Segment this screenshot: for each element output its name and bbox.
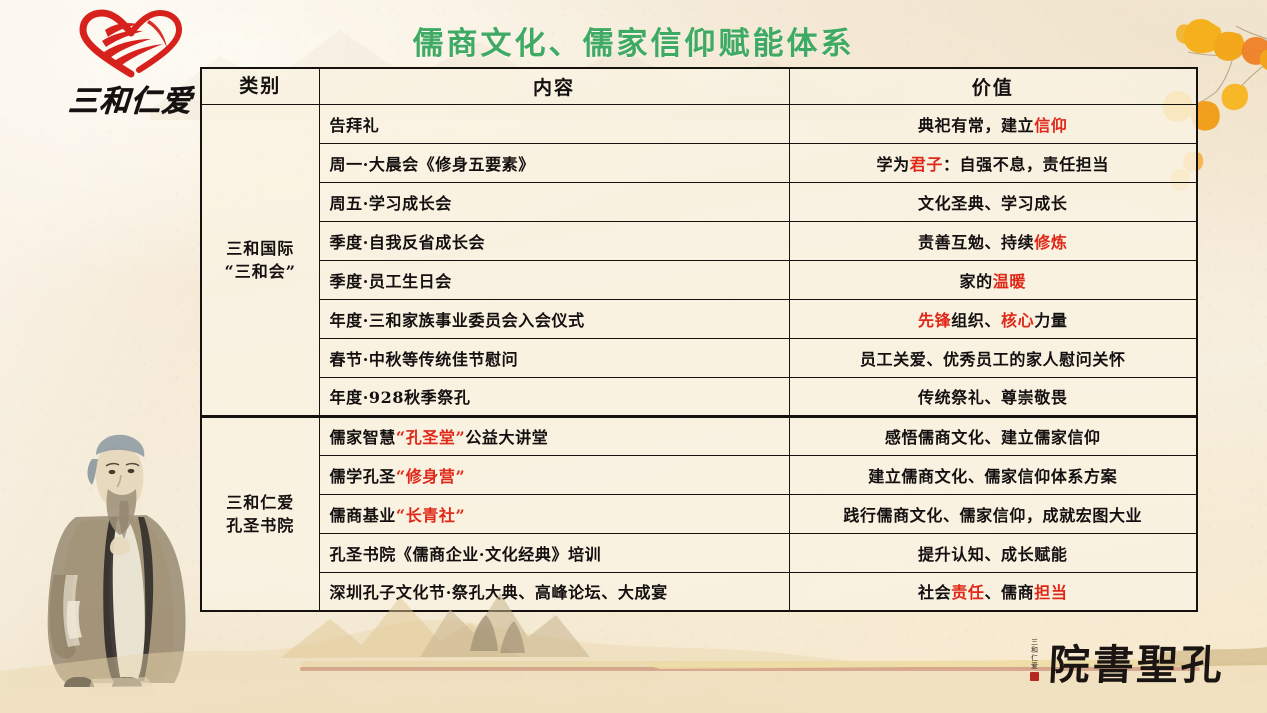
value-segment-1: 组织、 [951,311,1001,330]
value-segment-2: 、儒商 [984,583,1034,602]
content-cell: 告拜礼 [319,104,789,143]
content-cell: 年度·928秋季祭孔 [319,377,789,416]
content-cell: 儒家智慧“孔圣堂”公益大讲堂 [319,416,789,455]
content-cell: 季度·自我反省成长会 [319,221,789,260]
seal-stamp-square-icon [1030,672,1039,681]
table-header-row: 类别 内容 价值 [201,68,1197,104]
value-segment-0: 感悟儒商文化、建立儒家信仰 [885,428,1101,447]
value-cell: 先锋组织、核心力量 [789,299,1197,338]
table-row: 深圳孔子文化节·祭孔大典、高峰论坛、大成宴社会责任、儒商担当 [201,572,1197,611]
table-row: 儒商基业“长青社”践行儒商文化、儒家信仰，成就宏图大业 [201,494,1197,533]
content-cell: 儒学孔圣“修身营” [319,455,789,494]
brand-logo-text: 三和仁爱 [46,76,214,120]
content-cell: 儒商基业“长青社” [319,494,789,533]
value-segment-1: 君子 [910,155,943,174]
value-cell: 典祀有常，建立信仰 [789,104,1197,143]
column-header-category: 类别 [201,68,319,104]
value-segment-2: ：自强不息，责任担当 [943,155,1109,174]
category-line-0: 三和仁爱 [212,491,309,514]
matrix-table-wrapper: 类别 内容 价值 三和国际“三和会”告拜礼典祀有常，建立信仰周一·大晨会《修身五… [200,67,1196,612]
value-cell: 家的温暖 [789,260,1197,299]
value-segment-0: 传统祭礼、尊崇敬畏 [918,388,1067,407]
table-row: 周五·学习成长会文化圣典、学习成长 [201,182,1197,221]
content-segment-2: 公益大讲堂 [465,428,548,447]
value-cell: 建立儒商文化、儒家信仰体系方案 [789,455,1197,494]
column-header-content: 内容 [319,68,789,104]
table-row: 年度·928秋季祭孔传统祭礼、尊崇敬畏 [201,377,1197,416]
value-segment-1: 温暖 [993,272,1026,291]
value-segment-2: 核心 [1001,311,1034,330]
table-row: 儒学孔圣“修身营”建立儒商文化、儒家信仰体系方案 [201,455,1197,494]
content-cell: 周一·大晨会《修身五要素》 [319,143,789,182]
value-segment-0: 先锋 [918,311,951,330]
value-cell: 传统祭礼、尊崇敬畏 [789,377,1197,416]
table-row: 周一·大晨会《修身五要素》学为君子：自强不息，责任担当 [201,143,1197,182]
content-segment-0: 儒家智慧 [330,428,396,447]
content-segment-0: 孔圣书院《儒商企业·文化经典》培训 [330,545,602,564]
value-cell: 责善互勉、持续修炼 [789,221,1197,260]
value-cell: 社会责任、儒商担当 [789,572,1197,611]
value-cell: 提升认知、成长赋能 [789,533,1197,572]
column-header-value: 价值 [789,68,1197,104]
value-cell: 感悟儒商文化、建立儒家信仰 [789,416,1197,455]
table-row: 三和仁爱孔圣书院儒家智慧“孔圣堂”公益大讲堂感悟儒商文化、建立儒家信仰 [201,416,1197,455]
content-cell: 深圳孔子文化节·祭孔大典、高峰论坛、大成宴 [319,572,789,611]
category-line-1: “三和会” [212,260,309,283]
value-segment-3: 担当 [1034,583,1067,602]
value-segment-0: 学为 [877,155,910,174]
content-segment-0: 儒学孔圣 [330,467,396,486]
value-segment-0: 典祀有常，建立 [918,116,1034,135]
seal-stamp: 三和仁爱 [1027,638,1042,684]
table-row: 孔圣书院《儒商企业·文化经典》培训提升认知、成长赋能 [201,533,1197,572]
value-segment-1: 信仰 [1034,116,1067,135]
culture-system-table: 类别 内容 价值 三和国际“三和会”告拜礼典祀有常，建立信仰周一·大晨会《修身五… [200,67,1198,612]
value-segment-1: 修炼 [1034,233,1067,252]
value-cell: 员工关爱、优秀员工的家人慰问关怀 [789,338,1197,377]
seal-stamp-text: 三和仁爱 [1031,638,1039,670]
table-body: 三和国际“三和会”告拜礼典祀有常，建立信仰周一·大晨会《修身五要素》学为君子：自… [201,104,1197,611]
value-segment-0: 提升认知、成长赋能 [918,545,1067,564]
content-segment-0: 儒商基业 [330,506,396,525]
value-segment-0: 社会 [918,583,951,602]
category-cell-1: 三和仁爱孔圣书院 [201,416,319,611]
value-cell: 践行儒商文化、儒家信仰，成就宏图大业 [789,494,1197,533]
value-segment-0: 践行儒商文化、儒家信仰，成就宏图大业 [843,506,1142,525]
value-cell: 学为君子：自强不息，责任担当 [789,143,1197,182]
value-cell: 文化圣典、学习成长 [789,182,1197,221]
table-row: 季度·员工生日会家的温暖 [201,260,1197,299]
value-segment-0: 员工关爱、优秀员工的家人慰问关怀 [860,350,1126,369]
content-segment-1: “孔圣堂” [396,428,465,447]
value-segment-0: 责善互勉、持续 [918,233,1034,252]
table-row: 春节·中秋等传统佳节慰问员工关爱、优秀员工的家人慰问关怀 [201,338,1197,377]
content-cell: 季度·员工生日会 [319,260,789,299]
footer-seal-block: 三和仁爱 院書聖孔 [1027,631,1225,691]
content-cell: 孔圣书院《儒商企业·文化经典》培训 [319,533,789,572]
content-cell: 周五·学习成长会 [319,182,789,221]
value-segment-0: 家的 [960,272,993,291]
table-row: 三和国际“三和会”告拜礼典祀有常，建立信仰 [201,104,1197,143]
value-segment-3: 力量 [1034,311,1067,330]
content-segment-1: “修身营” [396,467,465,486]
category-line-1: 孔圣书院 [212,514,309,537]
content-cell: 年度·三和家族事业委员会入会仪式 [319,299,789,338]
value-segment-0: 文化圣典、学习成长 [918,194,1067,213]
content-segment-0: 深圳孔子文化节·祭孔大典、高峰论坛、大成宴 [330,583,668,602]
table-row: 季度·自我反省成长会责善互勉、持续修炼 [201,221,1197,260]
content-cell: 春节·中秋等传统佳节慰问 [319,338,789,377]
value-segment-0: 建立儒商文化、儒家信仰体系方案 [868,467,1117,486]
footer-calligraphy: 院書聖孔 [1047,631,1226,691]
confucius-portrait-icon [24,425,209,695]
slide-canvas: 三和仁爱 儒商文化、儒家信仰赋能体系 [0,0,1267,713]
category-line-0: 三和国际 [212,237,309,260]
content-segment-1: “长青社” [396,506,465,525]
value-segment-1: 责任 [951,583,984,602]
page-title: 儒商文化、儒家信仰赋能体系 [0,18,1267,63]
category-cell-0: 三和国际“三和会” [201,104,319,416]
table-row: 年度·三和家族事业委员会入会仪式先锋组织、核心力量 [201,299,1197,338]
